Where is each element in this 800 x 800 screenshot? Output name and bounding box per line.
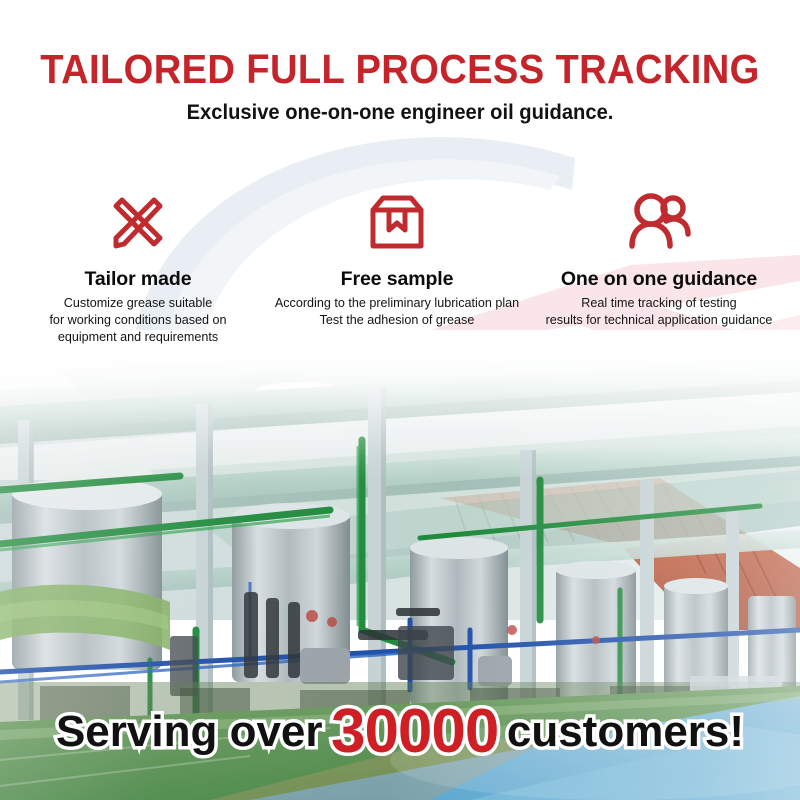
customers-banner: Serving over 30000 customers! <box>0 690 800 761</box>
ruler-pencil-cross-icon <box>10 186 266 258</box>
feature-desc-line: for working conditions based on <box>10 312 266 329</box>
banner-prefix: Serving over <box>56 707 323 757</box>
feature-tailor-made: Tailor made Customize grease suitable fo… <box>10 186 266 346</box>
page-subtitle: Exclusive one-on-one engineer oil guidan… <box>16 91 784 125</box>
feature-free-sample: Free sample According to the preliminary… <box>268 186 526 329</box>
feature-desc-line: Customize grease suitable <box>10 295 266 312</box>
two-people-icon <box>528 186 790 258</box>
package-box-icon <box>268 186 526 258</box>
banner-suffix: customers! <box>507 707 744 757</box>
banner-count: 30000 <box>331 696 498 767</box>
feature-title: Free sample <box>268 268 526 291</box>
feature-desc-line: Real time tracking of testing <box>528 295 790 312</box>
header: TAILORED FULL PROCESS TRACKING Exclusive… <box>0 0 800 125</box>
feature-list: Tailor made Customize grease suitable fo… <box>0 186 800 346</box>
feature-desc-line: According to the preliminary lubrication… <box>268 295 526 312</box>
feature-desc-line: equipment and requirements <box>10 329 266 346</box>
photo-top-fade <box>0 330 800 480</box>
feature-title: One on one guidance <box>528 268 790 291</box>
feature-one-on-one-guidance: One on one guidance Real time tracking o… <box>528 186 790 329</box>
feature-description: Customize grease suitable for working co… <box>10 295 266 346</box>
feature-description: Real time tracking of testing results fo… <box>528 295 790 329</box>
feature-title: Tailor made <box>10 268 266 291</box>
feature-desc-line: Test the adhesion of grease <box>268 312 526 329</box>
page-title: TAILORED FULL PROCESS TRACKING <box>28 0 772 91</box>
poster-root: TAILORED FULL PROCESS TRACKING Exclusive… <box>0 0 800 800</box>
feature-desc-line: results for technical application guidan… <box>528 312 790 329</box>
feature-description: According to the preliminary lubrication… <box>268 295 526 329</box>
